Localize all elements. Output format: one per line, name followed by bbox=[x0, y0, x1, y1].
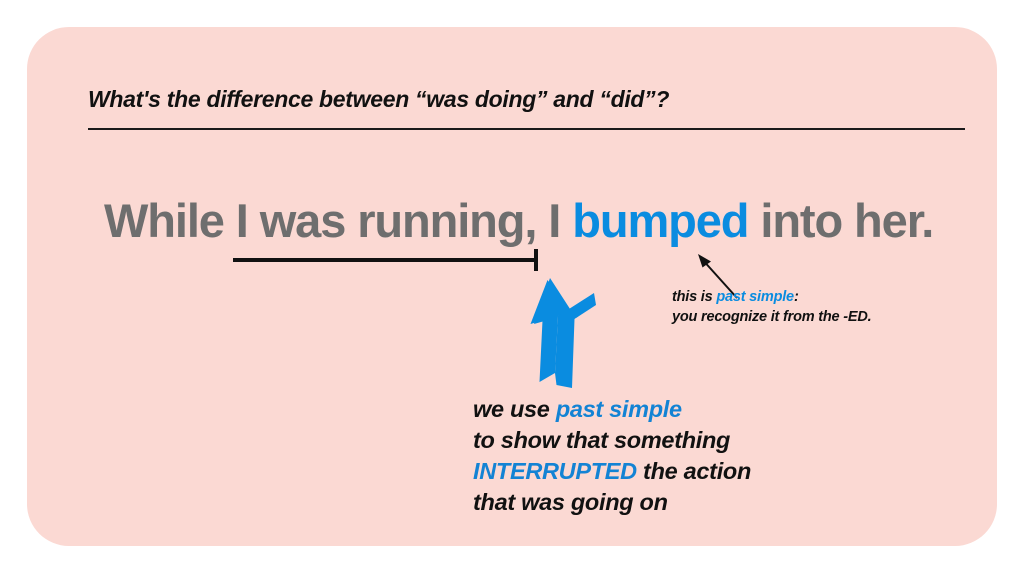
sentence-part-before: While I was running, I bbox=[104, 194, 572, 247]
note-right-line-1: this is past simple: bbox=[672, 287, 972, 307]
example-sentence: While I was running, I bumped into her. bbox=[104, 193, 984, 248]
note-right-line1-highlight: past simple bbox=[716, 289, 794, 305]
note-bottom-line1-prefix: we use bbox=[473, 396, 556, 422]
note-right-line-2: you recognize it from the -ED. bbox=[672, 307, 972, 327]
note-bottom-line-2: to show that something bbox=[473, 425, 903, 456]
note-right-line1-prefix: this is bbox=[672, 289, 716, 305]
slide-canvas: What's the difference between “was doing… bbox=[0, 0, 1025, 576]
note-past-simple-ed: this is past simple: you recognize it fr… bbox=[672, 287, 972, 327]
note-right-line1-suffix: : bbox=[794, 289, 799, 305]
duration-bracket-line bbox=[233, 258, 538, 262]
duration-bracket-tick bbox=[534, 249, 538, 271]
note-bottom-line-3: INTERRUPTED the action bbox=[473, 456, 903, 487]
note-bottom-line1-highlight: past simple bbox=[556, 396, 682, 422]
sentence-part-after: into her. bbox=[748, 194, 933, 247]
note-bottom-line3-suffix: the action bbox=[637, 458, 751, 484]
note-bottom-line-4: that was going on bbox=[473, 487, 903, 518]
note-interruption-explanation: we use past simple to show that somethin… bbox=[473, 394, 903, 518]
zigzag-up-arrow-icon bbox=[520, 272, 610, 392]
note-bottom-line3-highlight: INTERRUPTED bbox=[473, 458, 637, 484]
sentence-highlight-bumped: bumped bbox=[572, 194, 748, 247]
title-divider bbox=[88, 128, 965, 130]
note-bottom-line-1: we use past simple bbox=[473, 394, 903, 425]
page-title: What's the difference between “was doing… bbox=[88, 86, 968, 113]
